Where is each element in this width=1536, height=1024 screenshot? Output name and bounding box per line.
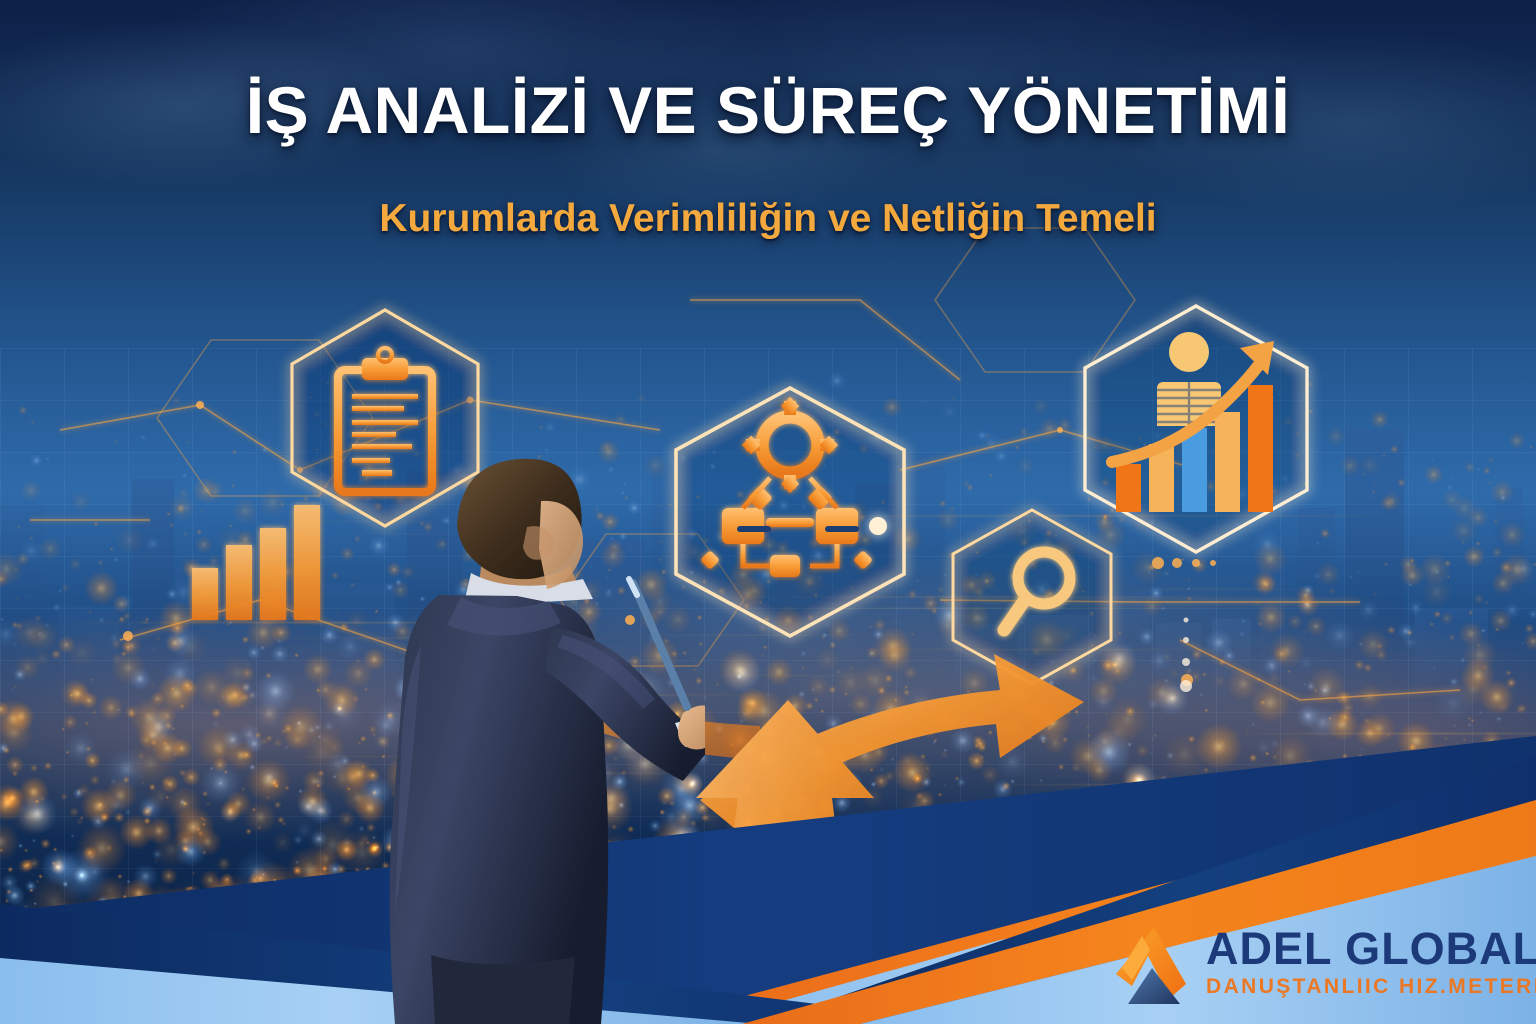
hexagon-analysis-search[interactable] (953, 510, 1111, 684)
poster-title: İŞ ANALİZİ VE SÜREÇ YÖNETİMİ (0, 72, 1536, 148)
hand (678, 705, 705, 749)
poster-subtitle: Kurumlarda Verimliliğin ve Netliğin Teme… (0, 197, 1536, 241)
side-bar-chart (192, 505, 320, 620)
poster-root: İŞ ANALİZİ VE SÜREÇ YÖNETİMİ Kurumlarda … (0, 0, 1536, 1024)
poster-title-wrap: İŞ ANALİZİ VE SÜREÇ YÖNETİMİ (0, 72, 1536, 148)
logo-tagline: DANUŞTANLIIC HIZ.METERI (1206, 975, 1536, 999)
hexagon-growth-analytics[interactable] (1085, 306, 1307, 552)
logo-text-block: ADEL GLOBAL DANUŞTANLIIC HIZ.METERI (1206, 926, 1536, 999)
logo-company-name: ADEL GLOBAL (1206, 926, 1536, 971)
hexagon-frame (676, 388, 904, 636)
graphics-overlay (0, 0, 1536, 1024)
poster-subtitle-wrap: Kurumlarda Verimliliğin ve Netliğin Teme… (0, 197, 1536, 241)
trousers (431, 955, 575, 1024)
hexagon-process-workflow[interactable] (676, 388, 904, 636)
businessman-figure (365, 455, 705, 1024)
touch-point-glow (869, 517, 887, 535)
brand-logo[interactable]: ADEL GLOBAL DANUŞTANLIIC HIZ.METERI (1114, 922, 1524, 1018)
logo-mark-icon (1114, 924, 1200, 1008)
